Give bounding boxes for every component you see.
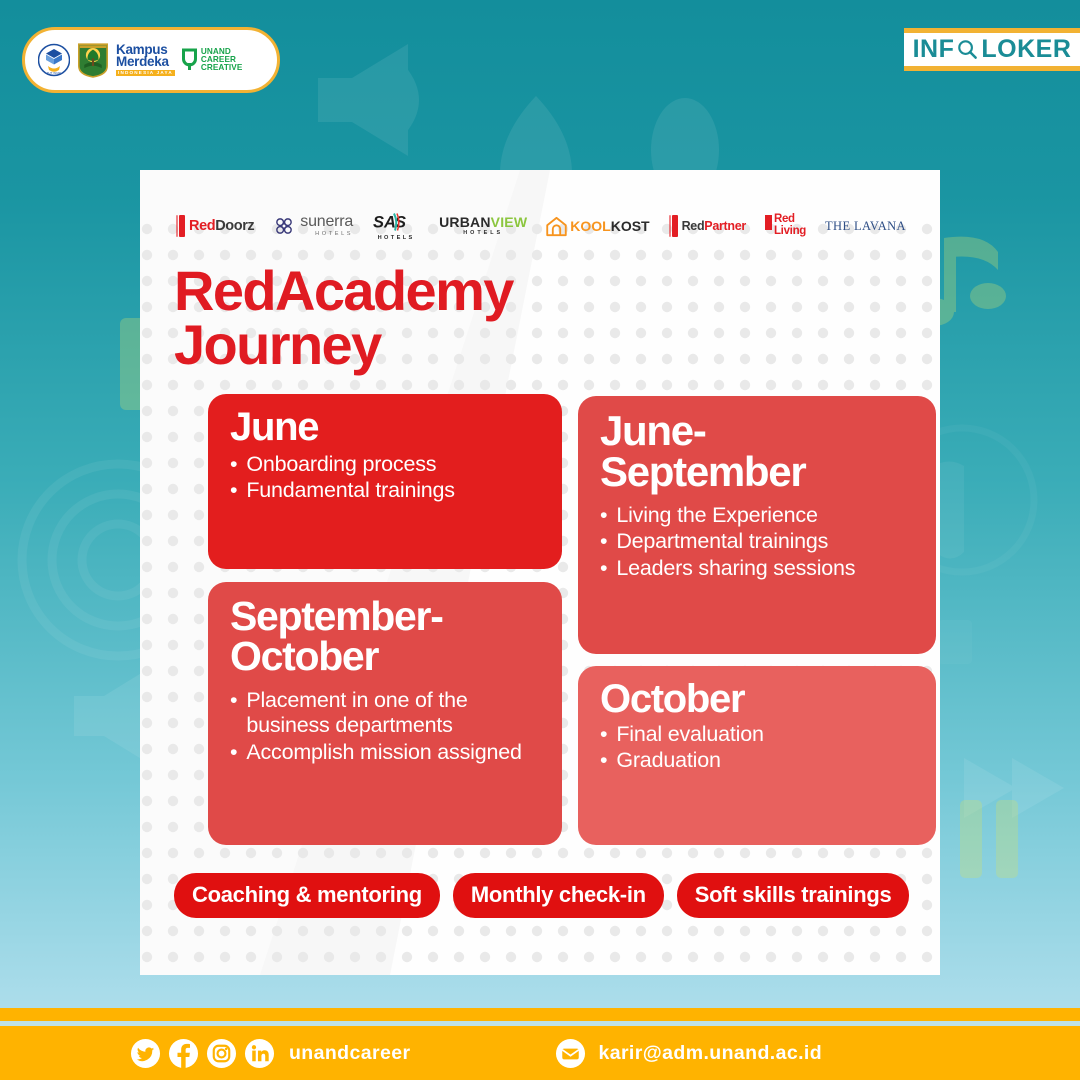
svg-text:TUT WURI: TUT WURI xyxy=(47,71,62,75)
card-june-item-0: Onboarding process xyxy=(246,452,436,477)
kampus-merdeka-logo: Kampus Merdeka INDONESIA JAYA xyxy=(116,44,175,75)
bullet-icon: • xyxy=(600,556,607,581)
magnifier-icon xyxy=(956,38,979,61)
card-october-heading: October xyxy=(600,680,916,719)
sunerra-knot-icon xyxy=(273,215,295,237)
card-june-september-item-0: Living the Experience xyxy=(616,503,817,528)
brand-koolkost: KOOLKOST xyxy=(546,216,649,237)
bullet-icon: • xyxy=(230,452,237,477)
journey-cards: June •Onboarding process •Fundamental tr… xyxy=(174,394,908,844)
svg-text:SA: SA xyxy=(373,214,396,232)
facebook-icon[interactable] xyxy=(168,1038,199,1069)
info-loker-suffix: LOKER xyxy=(981,35,1071,64)
card-september-october-item-1: Accomplish mission assigned xyxy=(246,740,521,765)
koolkost-part1: KOOL xyxy=(570,218,610,234)
redpartner-partner: Partner xyxy=(704,219,746,233)
brand-sunerra: sunerra HOTELS xyxy=(273,214,353,238)
card-june-heading: June xyxy=(230,408,542,447)
card-june-september-heading-line2: September xyxy=(600,451,916,492)
card-june-september-heading-line1: June- xyxy=(600,410,916,451)
footer-social-group: unandcareer xyxy=(130,1038,410,1069)
brand-redpartner: Partner RedPartner xyxy=(669,215,746,237)
journey-card-september-october: September- October •Placement in one of … xyxy=(208,582,562,845)
card-september-october-list: •Placement in one of the business depart… xyxy=(230,688,542,765)
bullet-icon: • xyxy=(230,688,237,739)
page-title-line2: Journey xyxy=(174,318,908,372)
page-title: RedAcademy Journey xyxy=(174,264,908,372)
pill-soft-skills-trainings: Soft skills trainings xyxy=(677,873,910,918)
info-loker-badge: INF LOKER xyxy=(904,28,1080,71)
card-june-september-heading: June- September xyxy=(600,410,916,492)
list-item: •Leaders sharing sessions xyxy=(600,556,916,581)
sans-wordmark-icon: SA S xyxy=(372,210,420,234)
footer-email-group: karir@adm.unand.ac.id xyxy=(555,1038,822,1069)
card-september-october-item-0: Placement in one of the business departm… xyxy=(246,688,542,739)
kampus-merdeka-line2: Merdeka xyxy=(116,56,169,68)
brand-sans: SA S HOTELS xyxy=(372,210,420,242)
card-june-september-item-1: Departmental trainings xyxy=(616,529,828,554)
social-handle: unandcareer xyxy=(289,1042,410,1065)
card-september-october-heading: September- October xyxy=(230,596,542,676)
card-october-item-1: Graduation xyxy=(616,748,720,773)
ucc-mark-icon xyxy=(181,48,198,72)
card-october-list: •Final evaluation •Graduation xyxy=(600,722,916,774)
kemendikbud-logo-icon: TUT WURI xyxy=(38,43,70,77)
journey-card-june: June •Onboarding process •Fundamental tr… xyxy=(208,394,562,569)
door-icon xyxy=(176,215,185,237)
poster-card: RedDoorz sunerra HOTELS SA xyxy=(140,170,940,975)
koolkost-part2: KOST xyxy=(611,218,650,234)
sunerra-sub: HOTELS xyxy=(300,232,353,238)
list-item: •Fundamental trainings xyxy=(230,478,542,503)
bullet-icon: • xyxy=(230,740,237,765)
urbanview-part2: VIEW xyxy=(491,214,528,230)
ucc-line3: CREATIVE xyxy=(201,64,243,72)
reddoorz-red: Red xyxy=(189,218,215,234)
list-item: •Final evaluation xyxy=(600,722,916,747)
bullet-icon: • xyxy=(600,503,607,528)
footer-bar: unandcareer karir@adm.unand.ac.id xyxy=(0,1026,1080,1080)
unand-career-creative-logo: UNAND CAREER CREATIVE xyxy=(181,48,243,73)
unand-crest-icon xyxy=(76,42,110,78)
bullet-icon: • xyxy=(600,748,607,773)
redliving-bar-icon xyxy=(765,215,772,230)
contact-email: karir@adm.unand.ac.id xyxy=(598,1042,822,1065)
door-icon xyxy=(669,215,678,237)
twitter-icon[interactable] xyxy=(130,1038,161,1069)
pill-coaching-mentoring: Coaching & mentoring xyxy=(174,873,440,918)
card-june-september-list: •Living the Experience •Departmental tra… xyxy=(600,503,916,581)
bullet-icon: • xyxy=(600,529,607,554)
info-loker-prefix: INF xyxy=(913,35,955,64)
card-june-list: •Onboarding process •Fundamental trainin… xyxy=(230,452,542,504)
instagram-icon[interactable] xyxy=(206,1038,237,1069)
brand-reddoorz: RedDoorz xyxy=(176,215,254,237)
page-title-line1: RedAcademy xyxy=(174,264,908,318)
reddoorz-dark: Doorz xyxy=(215,218,254,234)
kampus-merdeka-tagline: INDONESIA JAYA xyxy=(116,70,175,76)
brand-urbanview: URBANVIEW HOTELS xyxy=(439,215,527,236)
koolkost-house-icon xyxy=(546,216,567,237)
institution-logo-pill: TUT WURI Kampus Merdeka INDONESIA JAYA U… xyxy=(22,27,280,93)
urbanview-part1: URBAN xyxy=(439,214,491,230)
redpartner-red: Red xyxy=(682,219,705,233)
footer-top-accent-bar xyxy=(0,1008,1080,1021)
bullet-icon: • xyxy=(230,478,237,503)
list-item: •Accomplish mission assigned xyxy=(230,740,542,765)
card-june-september-item-2: Leaders sharing sessions xyxy=(616,556,855,581)
list-item: •Graduation xyxy=(600,748,916,773)
brand-redliving: Red Living xyxy=(765,214,806,237)
journey-card-june-september: June- September •Living the Experience •… xyxy=(578,396,936,654)
support-pills: Coaching & mentoring Monthly check-in So… xyxy=(174,873,908,918)
pill-monthly-check-in: Monthly check-in xyxy=(453,873,664,918)
envelope-icon[interactable] xyxy=(555,1038,586,1069)
list-item: •Living the Experience xyxy=(600,503,916,528)
sunerra-name: sunerra xyxy=(300,214,353,230)
card-june-item-1: Fundamental trainings xyxy=(246,478,455,503)
journey-card-october: October •Final evaluation •Graduation xyxy=(578,666,936,845)
list-item: •Onboarding process xyxy=(230,452,542,477)
card-september-october-heading-line2: October xyxy=(230,636,542,676)
list-item: •Departmental trainings xyxy=(600,529,916,554)
partner-brand-strip: RedDoorz sunerra HOTELS SA xyxy=(174,204,908,248)
redliving-line2: Living xyxy=(774,226,806,238)
brand-thelavana: THE LAVANA xyxy=(825,219,906,234)
card-october-item-0: Final evaluation xyxy=(616,722,763,747)
bullet-icon: • xyxy=(600,722,607,747)
card-september-october-heading-line1: September- xyxy=(230,596,542,636)
urbanview-sub: HOTELS xyxy=(463,231,503,236)
sans-sub: HOTELS xyxy=(378,236,415,242)
linkedin-icon[interactable] xyxy=(244,1038,275,1069)
info-loker-bottom-bar xyxy=(904,66,1080,71)
list-item: •Placement in one of the business depart… xyxy=(230,688,542,739)
